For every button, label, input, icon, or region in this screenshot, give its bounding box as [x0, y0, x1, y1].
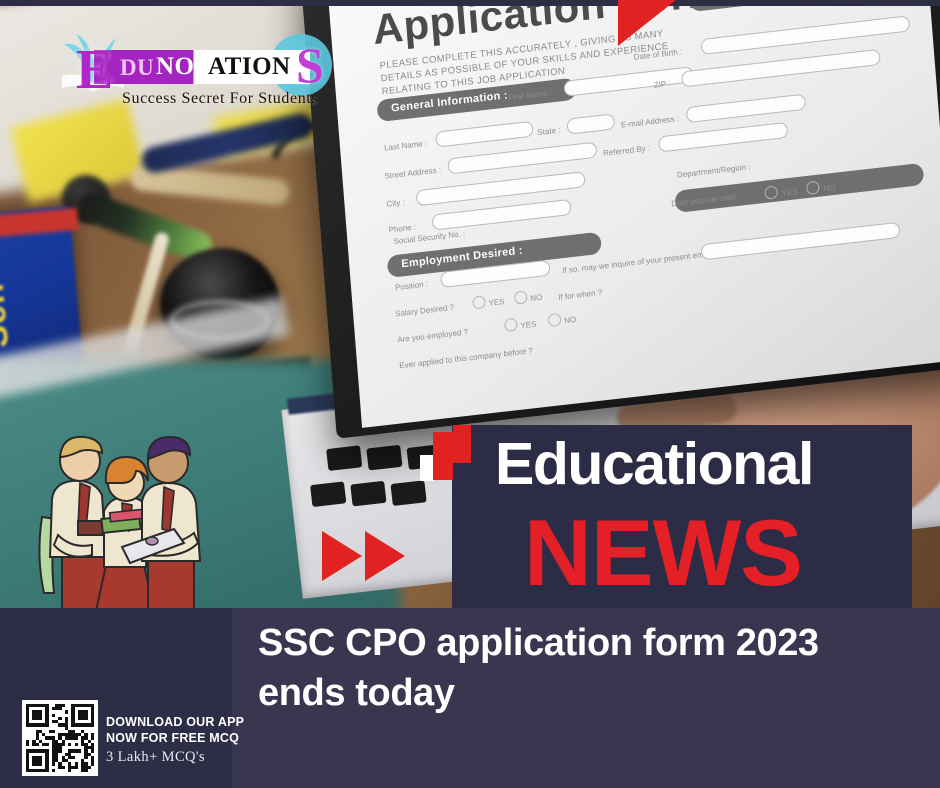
app-promo: DOWNLOAD OUR APP NOW FOR FREE MCQ 3 Lakh…	[106, 714, 296, 766]
form-input[interactable]	[566, 113, 615, 134]
form-radio-label-yes: YES	[781, 187, 798, 198]
form-input[interactable]	[435, 121, 534, 148]
triangle-accent-top-icon	[618, 0, 676, 46]
form-input[interactable]	[701, 222, 901, 261]
form-input[interactable]	[686, 94, 806, 124]
logo-tagline: Success Secret For Students	[122, 90, 318, 108]
promo-line-1: DOWNLOAD OUR APP	[106, 714, 296, 730]
banner-kicker: Educational	[495, 433, 813, 495]
form-field-label: Referred By :	[603, 144, 651, 158]
qr-code[interactable]	[22, 700, 98, 776]
dictionary-title: Sch	[0, 270, 89, 349]
form-radio-label-yes: YES	[520, 320, 537, 331]
logo-letters-du: DU	[120, 55, 154, 81]
form-field-label: City :	[386, 198, 405, 209]
form-field-label: Street Address :	[384, 165, 441, 180]
promo-line-2: NOW FOR FREE MCQ	[106, 730, 296, 746]
news-headline: SSC CPO application form 2023 ends today	[258, 618, 898, 718]
form-field-label: Salary Desired ?	[395, 303, 454, 319]
form-input[interactable]	[658, 122, 788, 153]
form-radio-yes[interactable]	[472, 295, 486, 309]
banner-flag-red	[433, 432, 453, 480]
news-poster: Sch Applicati	[0, 0, 940, 788]
form-field-label: If for when ?	[558, 288, 602, 302]
form-field-label: ZIP :	[654, 79, 671, 90]
application-form-document: Application Form PLEASE COMPLETE THIS AC…	[328, 0, 940, 428]
triangle-play-icon-1	[322, 531, 362, 581]
top-strip	[0, 0, 940, 6]
form-input[interactable]	[432, 199, 572, 231]
form-radio-label-no: NO	[564, 315, 577, 325]
form-radio-label-no: NO	[823, 183, 836, 193]
form-field-label: State :	[537, 126, 561, 138]
triangle-play-icon-2	[365, 531, 405, 581]
form-field-label: Are you employed ?	[397, 327, 468, 344]
form-field-label: E-mail Address :	[621, 114, 680, 130]
form-radio-no[interactable]	[514, 290, 528, 304]
form-field-label: Position :	[395, 280, 428, 293]
laptop-screen: Application Form PLEASE COMPLETE THIS AC…	[300, 0, 940, 439]
qr-code-grid	[26, 704, 94, 772]
form-input[interactable]	[700, 15, 910, 55]
form-field-label: Department/Region :	[677, 162, 751, 179]
promo-subtitle: 3 Lakh+ MCQ's	[106, 749, 296, 766]
banner-flag-white	[420, 455, 434, 481]
logo-letter-s: S	[296, 40, 324, 90]
form-radio-no[interactable]	[548, 313, 562, 327]
form-input[interactable]	[447, 142, 597, 175]
logo-letters-ation: ATION	[208, 53, 291, 81]
form-radio-label-no: NO	[530, 293, 543, 303]
logo-letter-e: E	[76, 42, 113, 98]
form-field-label: Ever applied to this company before ?	[399, 346, 533, 370]
form-field-label: Last Name :	[384, 139, 428, 153]
form-field-label: Phone :	[388, 223, 416, 235]
form-radio-yes[interactable]	[504, 318, 518, 332]
form-radio-label-yes: YES	[488, 297, 505, 308]
logo-letters-nov: NOV	[156, 53, 213, 81]
banner-flag-red-2	[453, 425, 471, 463]
form-input[interactable]	[681, 49, 881, 88]
banner-headline-word: NEWS	[524, 505, 802, 601]
edunovations-logo[interactable]: E DU NOV ATION S Success Secret For Stud…	[58, 28, 338, 114]
